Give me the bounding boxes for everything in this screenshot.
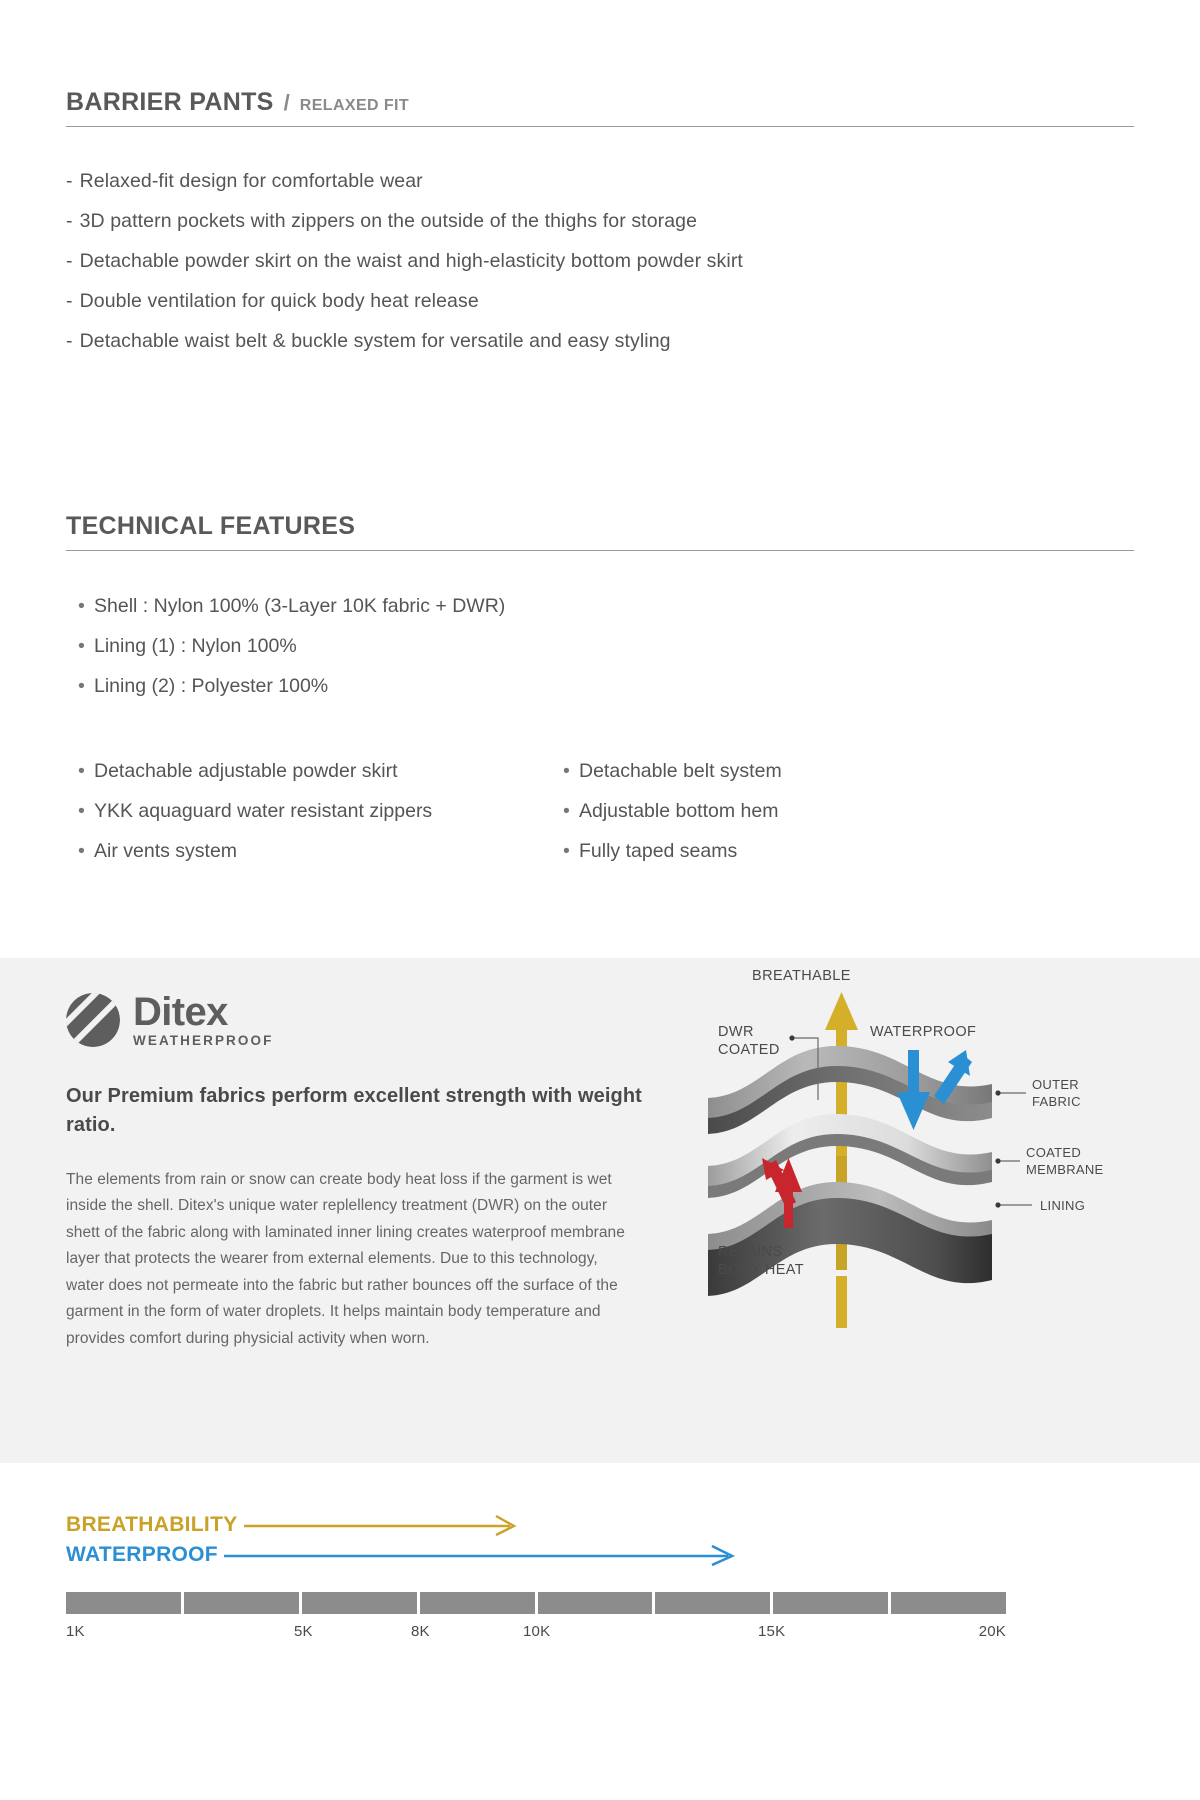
breathable-arrow-tail-icon bbox=[836, 1276, 847, 1328]
bullet-marker: • bbox=[563, 751, 579, 791]
product-fit-label: RELAXED FIT bbox=[300, 97, 409, 115]
list-item-label: YKK aquaguard water resistant zippers bbox=[94, 800, 432, 822]
material-list: •Shell : Nylon 100% (3-Layer 10K fabric … bbox=[66, 586, 1134, 706]
product-section: BARRIER PANTS / RELAXED FIT -Relaxed-fit… bbox=[66, 88, 1134, 361]
ditex-panel: Ditex WEATHERPROOF Our Premium fabrics p… bbox=[0, 958, 1200, 1463]
diagram-label-outer-line2: FABRIC bbox=[1032, 1094, 1081, 1109]
list-item: -3D pattern pockets with zippers on the … bbox=[66, 201, 1134, 241]
tick-label: 20K bbox=[979, 1623, 1006, 1640]
ditex-logo-text: Ditex WEATHERPROOF bbox=[133, 992, 273, 1048]
scale-tick-labels: 1K 5K 8K 10K 15K 20K bbox=[66, 1623, 1006, 1645]
diagram-label-waterproof: WATERPROOF bbox=[870, 1024, 976, 1040]
dash-marker: - bbox=[66, 210, 73, 232]
list-item: •Detachable belt system bbox=[563, 751, 1048, 791]
list-item-label: Air vents system bbox=[94, 840, 237, 862]
list-item: •Lining (1) : Nylon 100% bbox=[78, 626, 1134, 666]
list-item: •Adjustable bottom hem bbox=[563, 791, 1048, 831]
bar-segment bbox=[66, 1592, 181, 1614]
list-item: -Detachable powder skirt on the waist an… bbox=[66, 241, 1134, 281]
dash-marker: - bbox=[66, 170, 73, 192]
list-item-label: Relaxed-fit design for comfortable wear bbox=[80, 170, 423, 192]
product-feature-list: -Relaxed-fit design for comfortable wear… bbox=[66, 161, 1134, 361]
bullet-marker: • bbox=[563, 831, 579, 871]
diagram-label-dwr-line2: COATED bbox=[718, 1042, 780, 1058]
bullet-marker: • bbox=[78, 586, 94, 626]
list-item-label: Double ventilation for quick body heat r… bbox=[80, 290, 479, 312]
ditex-logo-mark-icon bbox=[66, 993, 120, 1047]
dash-marker: - bbox=[66, 250, 73, 272]
bar-segment bbox=[891, 1592, 1006, 1614]
layer-lining bbox=[708, 1182, 992, 1296]
diagram-label-dwr-line1: DWR bbox=[718, 1024, 754, 1040]
ditex-brand-name: Ditex bbox=[133, 992, 273, 1032]
list-item-label: Detachable powder skirt on the waist and… bbox=[80, 250, 743, 272]
list-item: •YKK aquaguard water resistant zippers bbox=[78, 791, 563, 831]
dash-marker: - bbox=[66, 290, 73, 312]
waterproof-label: WATERPROOF bbox=[66, 1543, 218, 1567]
list-item: -Detachable waist belt & buckle system f… bbox=[66, 321, 1134, 361]
list-item: •Shell : Nylon 100% (3-Layer 10K fabric … bbox=[78, 586, 1134, 626]
diagram-label-breathable: BREATHABLE bbox=[752, 968, 851, 984]
technical-features-header: TECHNICAL FEATURES bbox=[66, 512, 1134, 551]
list-item-label: Detachable belt system bbox=[579, 760, 782, 782]
tick-label: 1K bbox=[66, 1623, 85, 1640]
bullet-marker: • bbox=[78, 666, 94, 706]
diagram-label-membrane-line1: COATED bbox=[1026, 1145, 1081, 1160]
ditex-heading: Our Premium fabrics perform excellent st… bbox=[66, 1082, 681, 1140]
list-item-label: Fully taped seams bbox=[579, 840, 737, 862]
technical-column-left: •Detachable adjustable powder skirt •YKK… bbox=[78, 751, 563, 871]
list-item-label: 3D pattern pockets with zippers on the o… bbox=[80, 210, 697, 232]
dwr-leader-dot bbox=[789, 1035, 794, 1040]
bullet-marker: • bbox=[78, 626, 94, 666]
breathability-arrow-icon bbox=[238, 1514, 538, 1536]
bar-segment bbox=[773, 1592, 888, 1614]
spec-sheet-page: BARRIER PANTS / RELAXED FIT -Relaxed-fit… bbox=[0, 0, 1200, 1800]
list-item: •Detachable adjustable powder skirt bbox=[78, 751, 563, 791]
list-item: •Air vents system bbox=[78, 831, 563, 871]
diagram-label-outer-line1: OUTER bbox=[1032, 1077, 1079, 1092]
fabric-layer-diagram: BREATHABLE WATERPROOF DWR COATED bbox=[700, 958, 1180, 1463]
list-item: -Relaxed-fit design for comfortable wear bbox=[66, 161, 1134, 201]
technical-column-right: •Detachable belt system •Adjustable bott… bbox=[563, 751, 1048, 871]
product-title-header: BARRIER PANTS / RELAXED FIT bbox=[66, 88, 1134, 127]
bar-segment bbox=[302, 1592, 417, 1614]
performance-bar bbox=[66, 1592, 1006, 1614]
diagram-label-lining: LINING bbox=[1040, 1198, 1085, 1213]
ditex-text-column: Ditex WEATHERPROOF Our Premium fabrics p… bbox=[66, 992, 681, 1352]
bullet-marker: • bbox=[78, 751, 94, 791]
tick-label: 10K bbox=[523, 1623, 550, 1640]
list-item-label: Lining (1) : Nylon 100% bbox=[94, 635, 297, 657]
ditex-logo: Ditex WEATHERPROOF bbox=[66, 992, 681, 1048]
bullet-marker: • bbox=[78, 791, 94, 831]
tick-label: 5K bbox=[294, 1623, 313, 1640]
technical-detail-columns: •Detachable adjustable powder skirt •YKK… bbox=[66, 751, 1134, 871]
list-item: -Double ventilation for quick body heat … bbox=[66, 281, 1134, 321]
list-item: •Fully taped seams bbox=[563, 831, 1048, 871]
waterproof-scale-row: WATERPROOF bbox=[66, 1540, 1134, 1570]
ditex-tagline: WEATHERPROOF bbox=[133, 1034, 273, 1048]
list-item-label: Lining (2) : Polyester 100% bbox=[94, 675, 328, 697]
list-item-label: Detachable adjustable powder skirt bbox=[94, 760, 398, 782]
bar-segment bbox=[538, 1592, 653, 1614]
list-item: •Lining (2) : Polyester 100% bbox=[78, 666, 1134, 706]
title-separator: / bbox=[284, 90, 290, 116]
technical-features-section: TECHNICAL FEATURES •Shell : Nylon 100% (… bbox=[66, 512, 1134, 871]
breathability-scale-row: BREATHABILITY bbox=[66, 1510, 1134, 1540]
bullet-marker: • bbox=[563, 791, 579, 831]
dash-marker: - bbox=[66, 330, 73, 352]
performance-scale-section: BREATHABILITY WATERPROOF 1K 5 bbox=[66, 1510, 1134, 1645]
bar-segment bbox=[420, 1592, 535, 1614]
list-item-label: Shell : Nylon 100% (3-Layer 10K fabric +… bbox=[94, 595, 505, 617]
ditex-body-text: The elements from rain or snow can creat… bbox=[66, 1167, 626, 1353]
waterproof-arrow-icon bbox=[218, 1544, 758, 1566]
bullet-marker: • bbox=[78, 831, 94, 871]
list-item-label: Adjustable bottom hem bbox=[579, 800, 778, 822]
tick-label: 15K bbox=[758, 1623, 785, 1640]
diagram-label-retains-line2: BODY HEAT bbox=[718, 1262, 804, 1278]
tick-label: 8K bbox=[411, 1623, 430, 1640]
section-title: TECHNICAL FEATURES bbox=[66, 512, 355, 541]
breathability-label: BREATHABILITY bbox=[66, 1513, 238, 1537]
bar-segment bbox=[184, 1592, 299, 1614]
bar-segment bbox=[655, 1592, 770, 1614]
page-title: BARRIER PANTS bbox=[66, 88, 274, 117]
membrane-leader-dot bbox=[995, 1158, 1000, 1163]
outer-fabric-leader-dot bbox=[995, 1090, 1000, 1095]
diagram-label-retains-line1: RETAINS bbox=[718, 1244, 783, 1260]
diagram-label-membrane-line2: MEMBRANE bbox=[1026, 1162, 1104, 1177]
list-item-label: Detachable waist belt & buckle system fo… bbox=[80, 330, 671, 352]
lining-leader-dot bbox=[995, 1202, 1000, 1207]
